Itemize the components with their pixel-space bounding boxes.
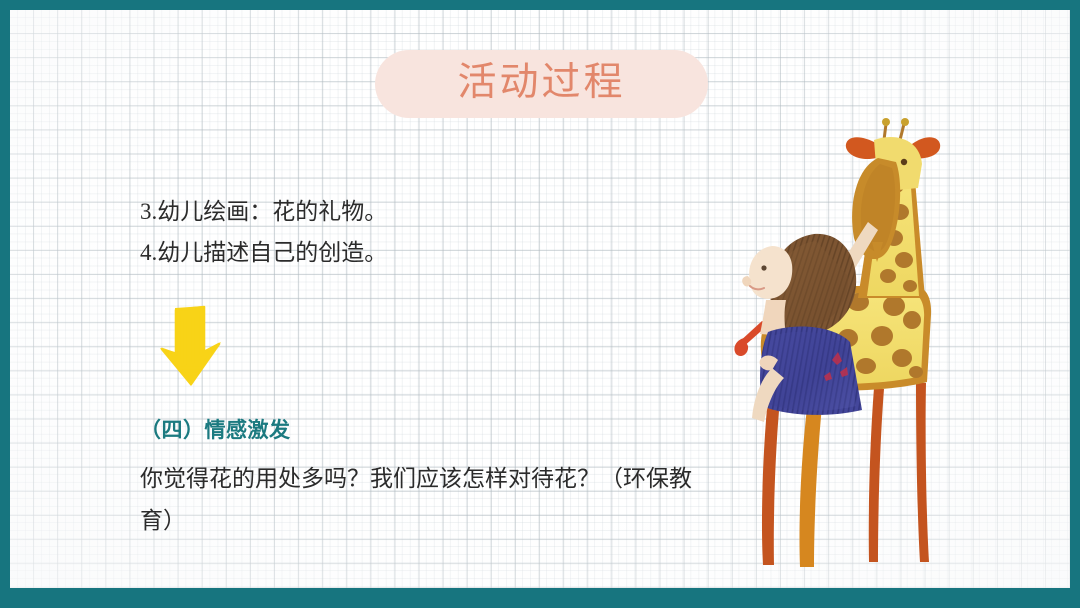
slide: 活动过程 3.幼儿绘画：花的礼物。 4.幼儿描述自己的创造。: [0, 0, 1080, 608]
section-body-text: 你觉得花的用处多吗？我们应该怎样对待花？（环保教育）: [140, 458, 710, 542]
list-item: 4.幼儿描述自己的创造。: [140, 241, 720, 264]
slide-title-pill: 活动过程: [375, 50, 708, 118]
numbered-list: 3.幼儿绘画：花的礼物。 4.幼儿描述自己的创造。: [140, 200, 720, 282]
list-item: 3.幼儿绘画：花的礼物。: [140, 200, 720, 223]
girl-and-giraffe-illustration: [728, 110, 978, 580]
page-title: 活动过程: [457, 63, 625, 105]
grid-paper-background: 活动过程 3.幼儿绘画：花的礼物。 4.幼儿描述自己的创造。: [10, 10, 1070, 588]
down-arrow-icon: [155, 302, 227, 388]
section-heading: （四）情感激发: [140, 414, 291, 444]
